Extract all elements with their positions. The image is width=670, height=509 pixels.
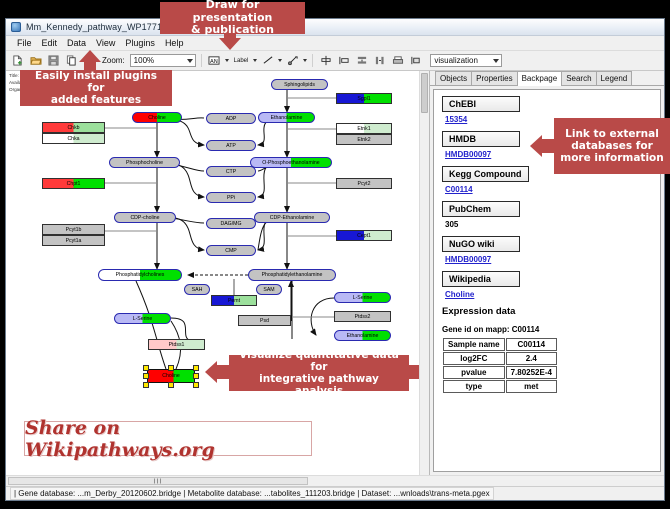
table-row: pvalue 7.80252E-4 [443,366,557,379]
expr-val-sample-name: C00114 [506,338,557,351]
canvas-vertical-scroll-thumb[interactable] [421,73,428,113]
menu-item-help[interactable]: Help [160,38,189,48]
expression-table: Sample name C00114 log2FC 2.4 pvalue 7.8… [442,337,558,394]
zoom-combo[interactable]: 100% [130,54,196,67]
datanode-icon[interactable]: AN [207,53,222,68]
selection-handle-mr[interactable] [193,373,199,379]
db-link-wikipedia[interactable]: Choline [445,290,652,299]
node-cdp-ethanolamine[interactable]: CDP-Ethanolamine [254,212,330,223]
node-o-phosphoethanolamine[interactable]: O-Phosphoethanolamine [250,157,332,168]
canvas-vertical-scrollbar[interactable] [419,71,429,475]
node-pcyt2[interactable]: Pcyt2 [336,178,392,189]
copy-icon[interactable] [64,53,79,68]
selection-handle-bl[interactable] [143,382,149,388]
distribute-vertical-icon[interactable] [354,53,369,68]
selection-handle-ml[interactable] [143,373,149,379]
tab-search[interactable]: Search [561,71,596,85]
node-adp[interactable]: ADP [206,113,256,124]
node-ctp[interactable]: CTP [206,166,256,177]
node-sgpl1[interactable]: Sgpl1 [336,93,392,104]
expr-val-log2fc: 2.4 [506,352,557,365]
callout-visualize-data: Visualize quantitative data for integrat… [229,355,409,391]
callout-visualize-arrow-icon [205,361,217,383]
distribute-horizontal-icon[interactable] [372,53,387,68]
canvas-horizontal-scroll-thumb[interactable] [8,477,308,485]
svg-text:AN: AN [210,59,218,65]
expr-key-log2fc: log2FC [443,352,505,365]
toolbar-separator [201,54,202,67]
new-file-icon[interactable] [10,53,25,68]
node-pcyt1a[interactable]: Pcyt1a [42,235,105,246]
selection-handle-tr[interactable] [193,365,199,371]
node-pcyt1b[interactable]: Pcyt1b [42,224,105,235]
expr-key-type: type [443,380,505,393]
status-bar: | Gene database: ...m_Derby_20120602.bri… [6,486,664,500]
db-value-pubchem: 305 [445,220,652,229]
db-link-kegg[interactable]: C00114 [445,185,652,194]
expr-key-pvalue: pvalue [443,366,505,379]
node-sam[interactable]: SAM [256,284,282,295]
app-icon [11,22,21,32]
selection-handle-tc[interactable] [168,365,174,371]
node-cdp-choline[interactable]: CDP-choline [114,212,176,223]
open-file-icon[interactable] [28,53,43,68]
node-cept1[interactable]: Cept1 [336,230,392,241]
title-bar: Mm_Kennedy_pathway_WP1771_45176.gpml [6,19,664,36]
db-label-nugowiki: NuGO wiki [442,236,520,252]
node-ptdss2[interactable]: Ptdss2 [334,311,391,322]
db-label-hmdb: HMDB [442,131,520,147]
table-row: log2FC 2.4 [443,352,557,365]
node-etnk2[interactable]: Etnk2 [336,134,392,145]
toolbar: Zoom: 100% AN Label [6,51,664,71]
print-icon[interactable] [390,53,405,68]
callout-share-wikipathways: Share on Wikipathways.org [24,421,312,456]
toolbar-separator-2 [312,54,313,67]
group-icon[interactable] [408,53,423,68]
node-sphingolipids[interactable]: Sphingolipids [271,79,328,90]
label-tool-label[interactable]: Label [232,58,251,64]
label-dropdown-icon[interactable] [253,59,257,62]
status-bar-text: | Gene database: ...m_Derby_20120602.bri… [10,487,494,500]
callout-links-arrow-icon [530,135,542,157]
datanode-dropdown-icon[interactable] [225,59,229,62]
callout-install-plugins: Easily install plugins for added feature… [20,70,172,106]
node-chka[interactable]: Chka [42,133,105,144]
node-psd[interactable]: Psd [238,315,291,326]
align-center-icon[interactable] [318,53,333,68]
node-ppi[interactable]: PPi [206,192,256,203]
zoom-value: 100% [134,56,154,65]
node-l-serine-left[interactable]: L-Serine [114,313,171,324]
node-phosphatidylcholines[interactable]: Phosphatidylcholines [98,269,182,281]
menu-bar: File Edit Data View Plugins Help [6,36,664,51]
menu-item-view[interactable]: View [91,38,120,48]
tab-objects[interactable]: Objects [435,71,472,85]
zoom-label: Zoom: [102,56,125,65]
expression-data-heading: Expression data [442,306,652,317]
node-ptdss1[interactable]: Ptdss1 [148,339,205,350]
db-label-pubchem: PubChem [442,201,520,217]
node-pemt[interactable]: Pemt [211,295,257,306]
db-label-chebi: ChEBI [442,96,520,112]
node-atp[interactable]: ATP [206,140,256,151]
callout-plugins-arrow-icon [79,50,101,62]
line-dropdown-icon[interactable] [278,59,282,62]
align-left-icon[interactable] [336,53,351,68]
save-file-icon[interactable] [46,53,61,68]
line-icon[interactable] [260,53,275,68]
node-chpt1[interactable]: Chpt1 [42,178,105,189]
anchor-dropdown-icon[interactable] [303,59,307,62]
tab-legend[interactable]: Legend [596,71,633,85]
node-cmp[interactable]: CMP [206,245,256,256]
node-chkb[interactable]: Chkb [42,122,105,133]
chevron-down-icon-2 [493,59,499,63]
node-choline[interactable]: Choline [132,112,182,123]
menu-item-edit[interactable]: Edit [37,38,63,48]
db-label-wikipedia: Wikipedia [442,271,520,287]
node-sah[interactable]: SAH [184,284,210,295]
gene-id-on-mapp: Gene id on mapp: C00114 [442,325,652,334]
visualization-value: visualization [434,56,478,65]
node-ethanolamine-right[interactable]: Ethanolamine [334,330,391,341]
tab-backpage[interactable]: Backpage [517,71,563,86]
node-phosphocholine[interactable]: Phosphocholine [109,157,180,168]
node-etnk1[interactable]: Etnk1 [336,123,392,134]
table-row: type met [443,380,557,393]
expr-val-pvalue: 7.80252E-4 [506,366,557,379]
selection-handle-bc[interactable] [168,382,174,388]
node-phosphatidylethanolamine[interactable]: Phosphatidylethanolamine [248,269,336,281]
expr-val-type: met [506,380,557,393]
canvas-horizontal-scrollbar[interactable] [6,475,664,486]
pathway-canvas[interactable]: Title: Availa Organi [6,71,429,475]
menu-item-plugins[interactable]: Plugins [120,38,160,48]
tab-properties[interactable]: Properties [471,71,517,85]
node-choline-selected[interactable]: Choline [147,369,195,383]
menu-item-data[interactable]: Data [62,38,91,48]
side-panel-tabs: Objects Properties Backpage Search Legen… [430,71,664,86]
callout-draw-for-publication: Draw for presentation & publication [160,2,305,34]
table-row: Sample name C00114 [443,338,557,351]
pathway-canvas-panel[interactable]: Title: Availa Organi [6,71,430,475]
node-l-serine-right[interactable]: L-Serine [334,292,391,303]
menu-item-file[interactable]: File [12,38,37,48]
node-ethanolamine[interactable]: Ethanolamine [258,112,315,123]
callout-draw-arrow-icon [219,38,241,50]
chevron-down-icon [187,59,193,63]
selection-handle-br[interactable] [193,382,199,388]
visualization-combo[interactable]: visualization [430,54,502,67]
selection-handle-tl[interactable] [143,365,149,371]
callout-external-links: Link to external databases for more info… [554,118,670,174]
node-dag-mg[interactable]: DAG/MG [206,218,256,229]
expr-key-sample-name: Sample name [443,338,505,351]
callout-plugins-stem [84,62,96,70]
db-link-nugowiki[interactable]: HMDB00097 [445,255,652,264]
db-label-kegg: Kegg Compound [442,166,529,182]
anchor-icon[interactable] [285,53,300,68]
